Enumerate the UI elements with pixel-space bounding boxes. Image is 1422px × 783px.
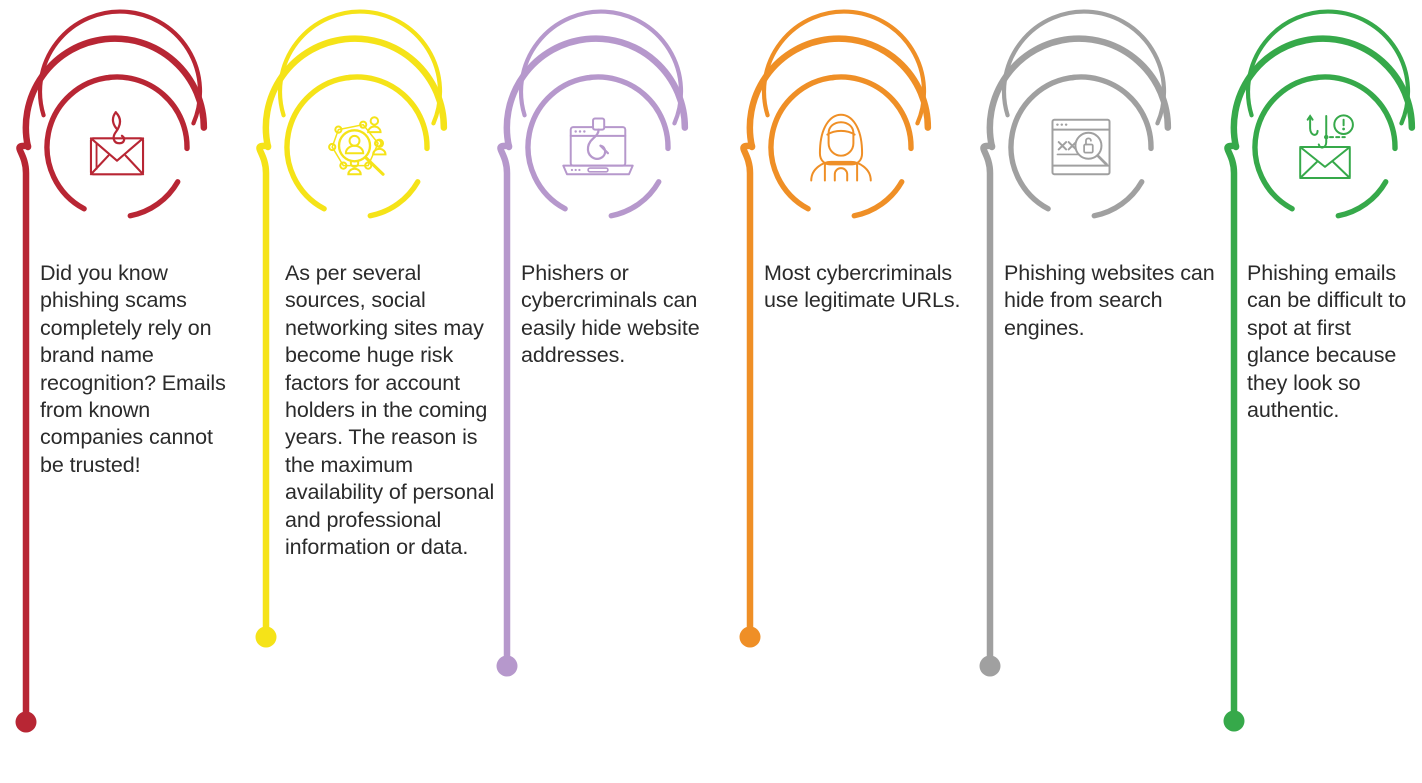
outer-ring <box>1234 39 1412 147</box>
inner-arc-left <box>1255 77 1319 208</box>
timeline-end-dot <box>1224 711 1245 732</box>
phishing-email-alert-icon <box>1300 115 1353 178</box>
connector-stem <box>1227 146 1236 721</box>
panel-connector-graphic <box>0 0 1422 783</box>
fact-text: Phishing emails can be difficult to spot… <box>1247 260 1415 424</box>
inner-arc-bottom <box>1338 182 1385 216</box>
infographic-canvas: Did you know phishing scams completely r… <box>0 0 1422 783</box>
